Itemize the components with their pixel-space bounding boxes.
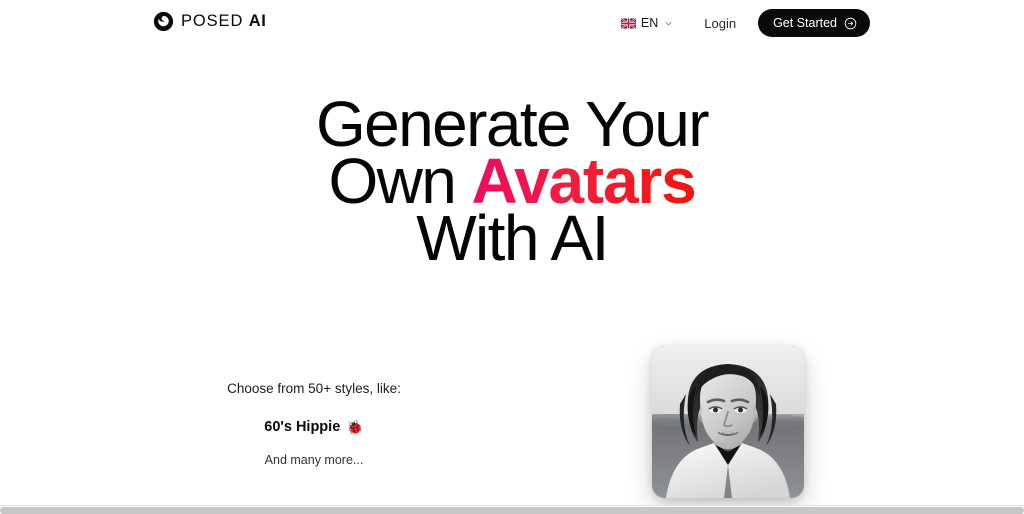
horizontal-scrollbar[interactable] <box>0 505 1024 514</box>
styles-teaser: Choose from 50+ styles, like: 60's Hippi… <box>150 380 478 469</box>
styles-lead-text: Choose from 50+ styles, like: <box>150 380 478 398</box>
arrow-right-circle-icon <box>844 17 857 30</box>
horizontal-scrollbar-thumb[interactable] <box>0 507 1024 514</box>
current-style-label: 60's Hippie <box>264 417 340 437</box>
brand-name: POSED AI <box>181 13 266 30</box>
current-style-row: 60's Hippie 🐞 <box>150 417 478 437</box>
styles-more-text: And many more... <box>150 451 478 469</box>
chevron-down-icon <box>663 19 673 28</box>
header-nav: EN Login Get Started <box>617 8 870 38</box>
brand-suffix: AI <box>249 12 267 30</box>
posed-ai-logo-icon <box>153 11 174 32</box>
get-started-label: Get Started <box>773 16 837 30</box>
hero-line-3: With AI <box>416 202 608 274</box>
brand-logo[interactable]: POSED AI <box>153 11 266 32</box>
generated-avatar-preview[interactable] <box>652 346 804 498</box>
site-header: POSED AI EN Login Get Started <box>0 0 1024 46</box>
login-link[interactable]: Login <box>704 16 736 31</box>
page-title: Generate Your Own Avatars With AI <box>0 96 1024 267</box>
ladybug-icon: 🐞 <box>346 420 363 434</box>
get-started-button[interactable]: Get Started <box>758 9 870 37</box>
uk-flag-icon <box>621 18 636 29</box>
language-code: EN <box>641 17 658 30</box>
language-selector[interactable]: EN <box>617 14 677 33</box>
hero-section: Generate Your Own Avatars With AI <box>0 96 1024 267</box>
